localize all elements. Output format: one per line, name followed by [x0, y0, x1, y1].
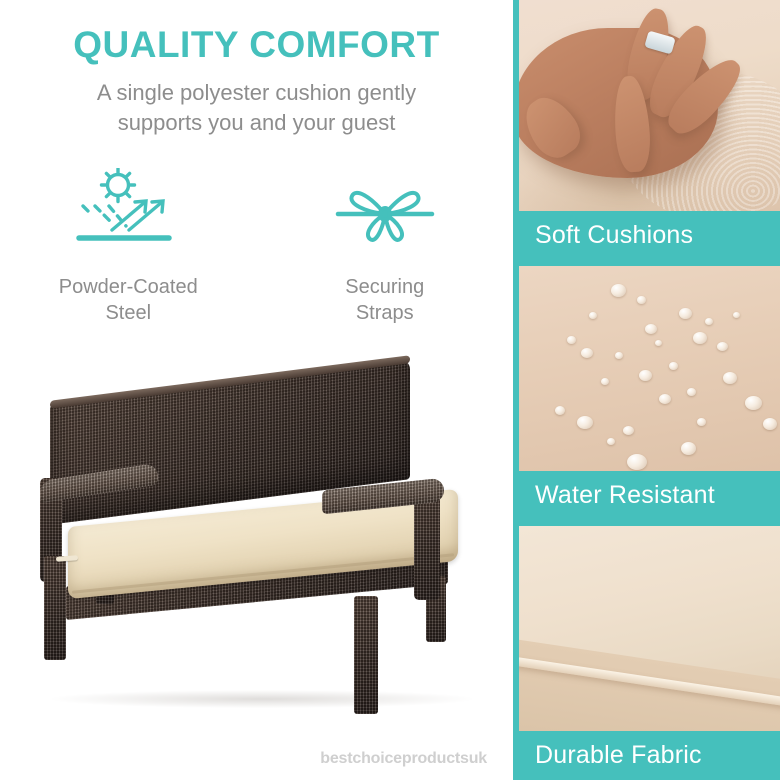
water-droplet [763, 418, 777, 430]
product-infographic: QUALITY COMFORT A single polyester cushi… [0, 0, 780, 780]
water-droplet [679, 308, 692, 319]
water-droplets-on-fabric-photo [519, 266, 780, 471]
water-droplet [659, 394, 671, 404]
feature-label-line-1: Powder-Coated [33, 274, 223, 300]
water-droplet [697, 418, 706, 426]
water-droplet [577, 416, 593, 429]
water-droplet [555, 406, 565, 415]
water-droplet [669, 362, 678, 370]
water-droplet [687, 388, 696, 396]
bench-armrest-right-post [414, 494, 440, 600]
panel-caption-water-resistant: Water Resistant [513, 471, 780, 520]
water-droplet [615, 352, 623, 359]
water-droplet [705, 318, 713, 325]
feature-label-securing-straps: Securing Straps [290, 274, 480, 326]
fabric-surface [519, 526, 780, 731]
bench-ground-shadow [52, 690, 472, 708]
water-droplet [637, 296, 646, 304]
left-content-column: QUALITY COMFORT A single polyester cushi… [0, 0, 513, 780]
water-droplet [681, 442, 696, 455]
water-fabric-surface [519, 266, 780, 471]
hand-pressing-cushion-photo [519, 0, 780, 211]
feature-label-line-2: Straps [290, 300, 480, 326]
panel-caption-durable-fabric: Durable Fabric [513, 731, 780, 780]
feature-label-powder-coated-steel: Powder-Coated Steel [33, 274, 223, 326]
page-subtitle: A single polyester cushion gently suppor… [36, 78, 477, 138]
water-droplet [639, 370, 652, 381]
feature-list: Powder-Coated Steel Securing [0, 168, 513, 326]
feature-panel-water-resistant: Water Resistant [513, 260, 780, 520]
feature-panel-soft-cushions: Soft Cushions [513, 0, 780, 260]
feature-label-line-2: Steel [33, 300, 223, 326]
cushion-surface [519, 0, 780, 211]
page-title: QUALITY COMFORT [0, 24, 513, 66]
subtitle-line-2: supports you and your guest [36, 108, 477, 138]
water-droplet [723, 372, 737, 384]
product-photo [0, 360, 513, 730]
feature-powder-coated-steel: Powder-Coated Steel [0, 168, 257, 326]
water-droplet [567, 336, 576, 344]
water-droplet [745, 396, 762, 410]
water-droplet [655, 340, 662, 346]
water-droplet [581, 348, 593, 358]
water-droplet [733, 312, 740, 318]
water-droplet [717, 342, 728, 351]
water-droplet [645, 324, 657, 334]
feature-label-line-1: Securing [290, 274, 480, 300]
panel-caption-soft-cushions: Soft Cushions [513, 211, 780, 260]
water-droplet [623, 426, 634, 435]
ribbon-bow-icon [326, 168, 444, 260]
bench-leg-front-right [354, 596, 378, 714]
water-droplet [693, 332, 707, 344]
water-droplet [589, 312, 597, 319]
water-droplet [607, 438, 615, 445]
bench-leg-front-left [44, 556, 66, 660]
water-droplet [611, 284, 626, 297]
cushion-fabric-seam-photo [519, 526, 780, 731]
right-feature-column: Soft Cushions [513, 0, 780, 780]
feature-panel-durable-fabric: Durable Fabric [513, 520, 780, 780]
brand-logo: bestchoiceproductsuk [320, 750, 487, 768]
wicker-bench [22, 360, 492, 730]
sun-reflect-surface-icon [69, 168, 187, 260]
subtitle-line-1: A single polyester cushion gently [36, 78, 477, 108]
water-droplet [627, 454, 647, 470]
feature-securing-straps: Securing Straps [257, 168, 514, 326]
water-droplet [601, 378, 609, 385]
